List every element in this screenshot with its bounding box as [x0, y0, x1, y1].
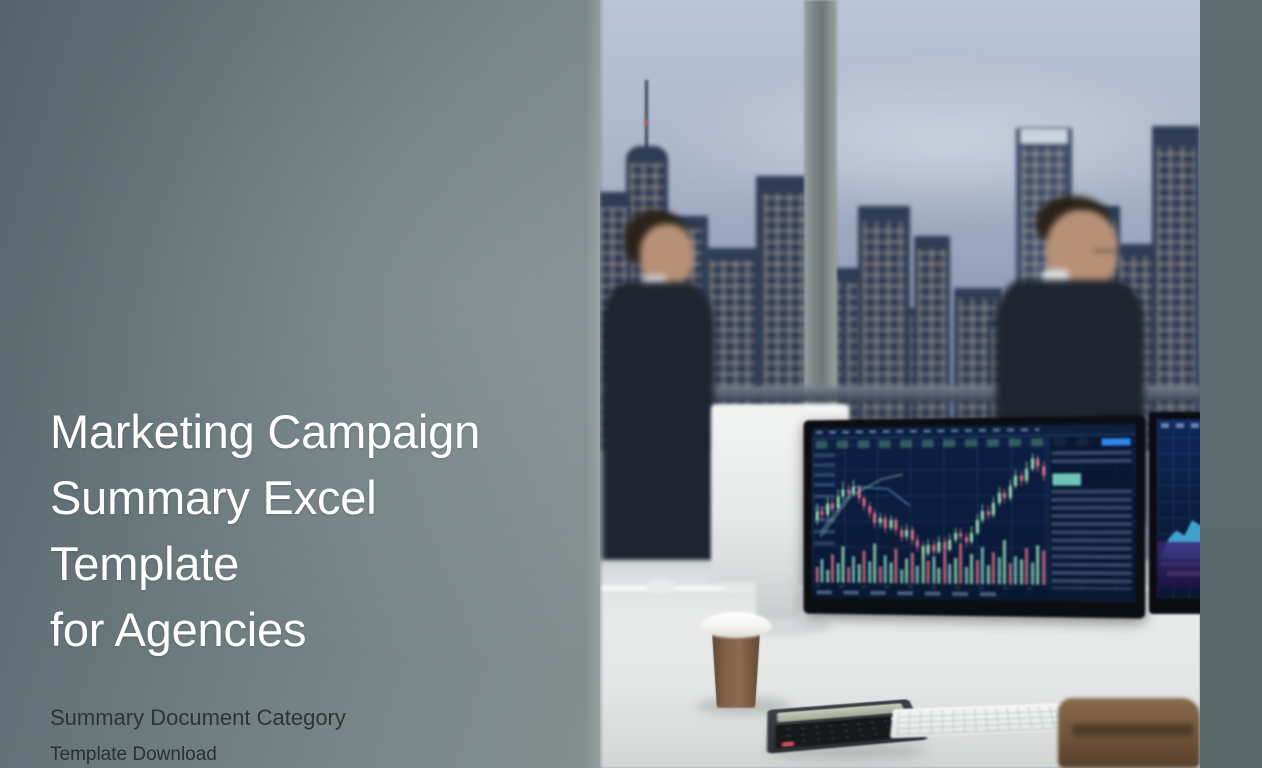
volume-bar [847, 567, 850, 582]
volume-bar [1003, 540, 1006, 584]
volume-bar [965, 567, 968, 584]
secondary-monitor [1149, 412, 1200, 614]
building-9 [858, 206, 910, 452]
candle [821, 506, 824, 520]
order-book-highlight [1052, 473, 1081, 485]
volume-bar [900, 570, 903, 584]
candle [895, 517, 898, 535]
volume-bar [927, 561, 930, 584]
candle [1020, 471, 1023, 486]
chart-status-bar [812, 586, 1136, 602]
volume-bar [1020, 560, 1023, 585]
volume-bar [842, 547, 845, 583]
candle [879, 513, 882, 527]
order-book-panel [1048, 436, 1133, 586]
mouse-far [646, 580, 676, 593]
volume-bar [1014, 556, 1017, 585]
volume-bar [884, 555, 887, 583]
title-line-3: for Agencies [50, 603, 306, 656]
volume-bar [831, 554, 834, 583]
candle [981, 504, 984, 522]
secondary-header [1161, 423, 1200, 428]
office-chair-arm [1072, 724, 1194, 736]
volume-bar [932, 556, 935, 583]
candle [889, 515, 892, 531]
volume-bar [938, 567, 941, 583]
spire-light-icon [644, 120, 648, 125]
volume-bar [863, 550, 866, 582]
volume-bar [816, 566, 819, 582]
candle [1031, 454, 1034, 471]
candle [1014, 470, 1017, 488]
candle [905, 524, 908, 541]
candle [852, 479, 855, 496]
eyeglasses-icon [1092, 250, 1122, 252]
candle [847, 484, 850, 498]
title-line-1: Marketing Campaign [50, 405, 480, 458]
candle [816, 504, 819, 525]
window-mullion [804, 0, 837, 452]
volume-bar [948, 564, 951, 584]
volume-bar [874, 543, 877, 583]
volume-bar [826, 570, 829, 583]
candle [987, 506, 990, 519]
secondary-purple-band [1157, 542, 1200, 588]
trading-monitor [804, 415, 1146, 618]
volume-bar [868, 561, 871, 583]
candle [858, 484, 861, 503]
volume-bar [959, 543, 962, 584]
candle [998, 487, 1001, 505]
candle [826, 498, 829, 518]
candle [868, 502, 871, 518]
trading-screen [812, 424, 1136, 602]
candle [837, 489, 840, 511]
volume-bar [821, 559, 824, 582]
volume-bar [1009, 563, 1012, 584]
volume-bar [943, 551, 946, 584]
candle [831, 499, 834, 513]
building-11-crown [1020, 128, 1068, 144]
candle [1042, 461, 1045, 481]
volume-bar [998, 558, 1001, 585]
candle [1025, 461, 1028, 483]
candle [842, 482, 845, 500]
candle [992, 497, 995, 518]
volume-bar [911, 553, 914, 584]
volume-bar [889, 562, 892, 583]
candle [976, 514, 979, 535]
volume-bar [970, 554, 973, 584]
volume-bar [987, 565, 990, 584]
candle [1036, 455, 1039, 471]
volume-bar [921, 545, 924, 583]
coffee-cup-lid [700, 612, 772, 638]
tower-spire [645, 80, 648, 150]
volume-bar [879, 566, 882, 583]
candle [1009, 480, 1012, 501]
volume-bar [1042, 550, 1045, 584]
volume-bar [837, 563, 840, 583]
candle [863, 495, 866, 511]
candle [874, 509, 877, 527]
order-book-button [1102, 438, 1131, 445]
volume-bar [1025, 549, 1028, 585]
volume-bar [1031, 562, 1034, 584]
slide-root: Marketing Campaign Summary Excel Templat… [0, 0, 1262, 768]
volume-bar [976, 560, 979, 584]
building-14 [1152, 126, 1200, 452]
person-left-body [602, 282, 714, 586]
title-line-2: Summary Excel Template [50, 471, 376, 590]
businessman-left [602, 210, 722, 586]
volume-histogram [816, 539, 1047, 584]
volume-bar [1036, 545, 1039, 585]
volume-bar [981, 547, 984, 584]
hero-photo [596, 0, 1200, 768]
candle [884, 514, 887, 532]
candle [1003, 488, 1006, 503]
subtitle-category: Summary Document Category [50, 704, 570, 732]
volume-bar [858, 564, 861, 583]
text-block: Marketing Campaign Summary Excel Templat… [50, 399, 570, 767]
volume-bar [916, 565, 919, 583]
volume-bar [992, 552, 995, 584]
panel-right-edge [586, 0, 600, 768]
page-title: Marketing Campaign Summary Excel Templat… [50, 399, 570, 663]
right-accent-bar [1200, 0, 1262, 768]
volume-bar [895, 549, 898, 583]
volume-bar [852, 557, 855, 583]
subtitle-download: Template Download [50, 742, 570, 767]
volume-bar [954, 558, 957, 584]
secondary-screen [1157, 419, 1200, 598]
volume-bar [905, 559, 908, 584]
title-panel: Marketing Campaign Summary Excel Templat… [0, 0, 600, 768]
